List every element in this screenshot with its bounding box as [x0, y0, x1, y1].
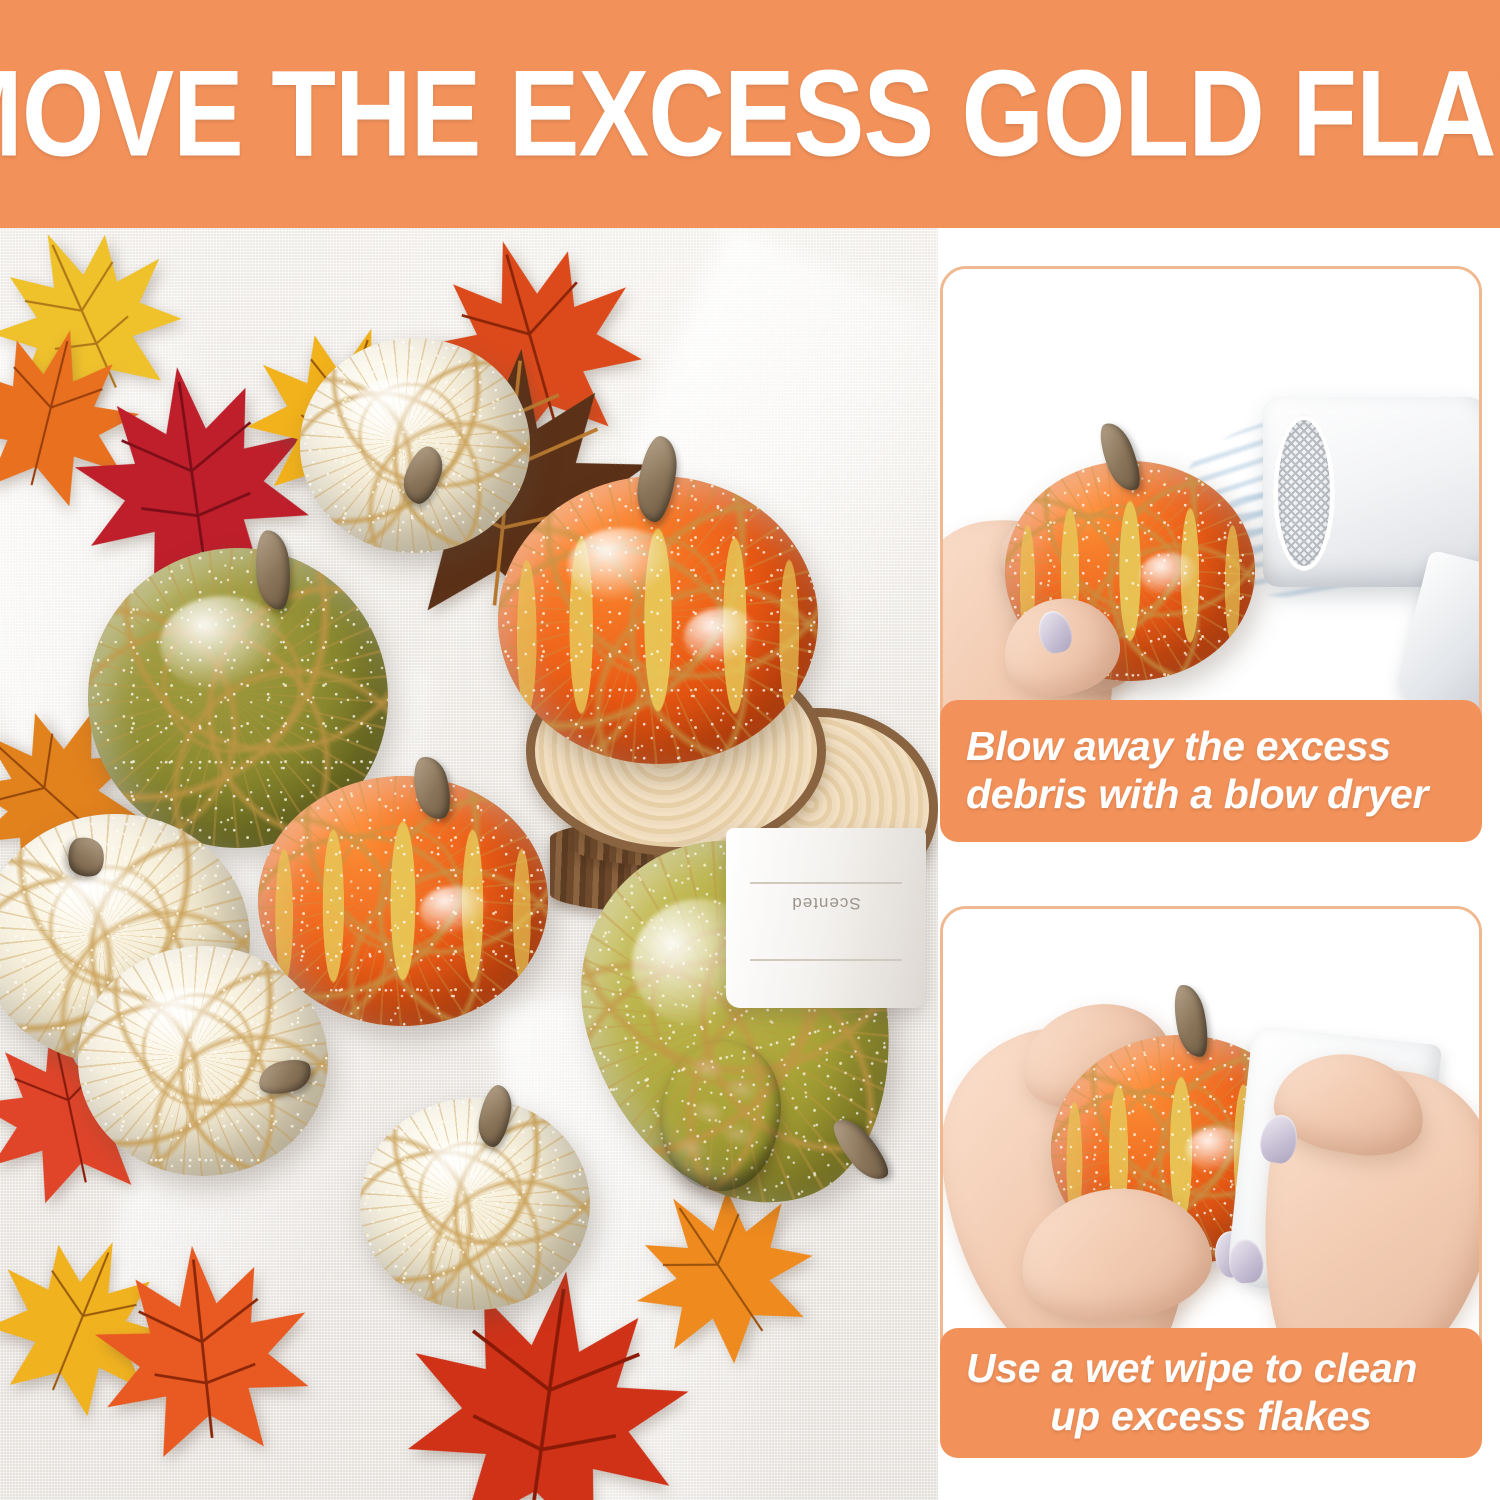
pumpkin-cream-lower — [78, 946, 328, 1176]
step-1-caption-line-1: Blow away the excess — [966, 723, 1391, 771]
step-1-caption: Blow away the excess debris with a blow … — [940, 700, 1482, 842]
step-2-caption: Use a wet wipe to clean up excess flakes — [940, 1328, 1482, 1458]
gold-glitter — [360, 1098, 590, 1310]
highlight — [160, 596, 286, 692]
maple-leaf-orange-bottom-left — [67, 1224, 340, 1479]
pumpkin-cream-top — [300, 338, 530, 553]
page-title: REMOVE THE EXCESS GOLD FLAKES — [0, 53, 1500, 176]
infographic-page: REMOVE THE EXCESS GOLD FLAKES — [0, 0, 1500, 1500]
highlight — [50, 864, 158, 939]
highlight — [138, 987, 238, 1056]
pumpkin-cream-bottom — [360, 1098, 590, 1310]
hero-photo: Scented — [0, 228, 938, 1500]
jar-label-text: Scented — [726, 893, 926, 913]
pumpkin-orange-large — [498, 476, 818, 764]
step-2-caption-line-1: Use a wet wipe to clean — [966, 1345, 1417, 1393]
highlight — [420, 886, 490, 936]
highlight — [568, 528, 677, 603]
step-2-caption-line-2: up excess flakes — [1050, 1393, 1371, 1441]
highlight — [420, 1140, 512, 1204]
highlight — [684, 608, 761, 666]
scented-candle-jar: Scented — [726, 828, 926, 1008]
highlight — [351, 377, 452, 450]
step-1-caption-line-2: debris with a blow dryer — [966, 771, 1428, 819]
blow-dryer-grill — [1273, 415, 1335, 571]
header-banner: REMOVE THE EXCESS GOLD FLAKES — [0, 0, 1500, 228]
